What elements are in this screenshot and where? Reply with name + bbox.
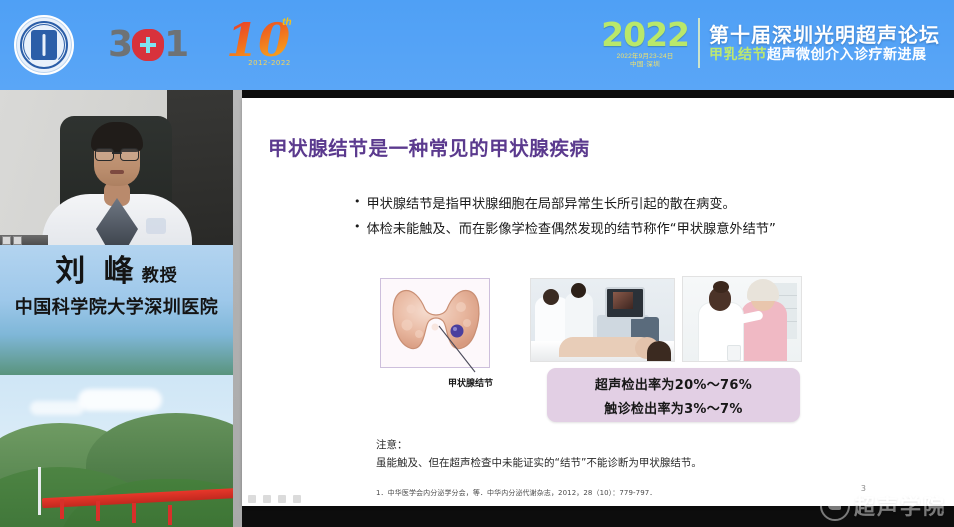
note-text: 虽能触及、但在超声检查中未能证实的“结节”不能诊断为甲状腺结节。 <box>376 454 916 472</box>
toolbar-icon[interactable] <box>263 495 271 503</box>
slide-note: 注意： 虽能触及、但在超声检查中未能证实的“结节”不能诊断为甲状腺结节。 <box>376 436 916 473</box>
banner-sub-title: 甲乳结节超声微创介入诊疗新进展 <box>709 48 940 62</box>
list-item: • 甲状腺结节是指甲状腺细胞在局部异常生长所引起的散在病变。 <box>354 192 934 217</box>
glasses-icon <box>95 148 139 159</box>
slide-reference: 1．中华医学会内分泌学分会，等．中华内分泌代谢杂志，2012，28（10）：77… <box>376 488 656 498</box>
palpation-exam-photo <box>682 276 802 362</box>
toolbar-icon[interactable] <box>293 495 301 503</box>
conference-banner: 3 1 10 th 2012-2022 2022 2022年9月23-24日 中… <box>0 0 954 90</box>
page-number: 3 <box>861 484 866 493</box>
presentation-viewer: 3 1 10 th 2012-2022 2022 2022年9月23-24日 中… <box>0 0 954 527</box>
banner-place: 中国·深圳 <box>630 62 660 69</box>
logo-digit-right: 1 <box>164 27 188 63</box>
speaker-panel: 刘 峰教授 中国科学院大学深圳医院 <box>0 90 233 527</box>
banner-main-title: 第十届深圳光明超声论坛 <box>709 25 940 45</box>
landscape-background <box>0 375 233 527</box>
banner-title-block: 2022 2022年9月23-24日 中国·深圳 第十届深圳光明超声论坛 甲乳结… <box>601 12 940 74</box>
banner-headings: 第十届深圳光明超声论坛 甲乳结节超声微创介入诊疗新进展 <box>709 25 940 62</box>
anniversary-numeral: 10 <box>226 17 290 63</box>
301-hospital-logo: 3 1 <box>108 27 188 63</box>
bullet-text: 体检未能触及、而在影像学检查偶然发现的结节称作“甲状腺意外结节” <box>367 217 776 242</box>
hospital-emblem-logo <box>14 15 74 75</box>
desktop-taskbar-strip[interactable] <box>0 235 48 245</box>
toolbar-icon[interactable] <box>278 495 286 503</box>
status-badge: 超声检出率为20%～76% <box>595 374 752 393</box>
anniversary-years: 2012-2022 <box>248 59 291 67</box>
note-heading: 注意： <box>376 436 916 454</box>
speaker-name-card: 刘 峰教授 中国科学院大学深圳医院 <box>0 256 233 319</box>
status-badge: 触诊检出率为3%～7% <box>604 398 742 417</box>
slide-bullet-list: • 甲状腺结节是指甲状腺细胞在局部异常生长所引起的散在病变。 • 体检未能触及、… <box>354 192 934 242</box>
bullet-text: 甲状腺结节是指甲状腺细胞在局部异常生长所引起的散在病变。 <box>367 192 736 217</box>
speaker-name-line: 刘 峰教授 <box>0 256 233 288</box>
red-cross-medallion-icon <box>131 28 165 62</box>
slide-content: 甲状腺结节是一种常见的甲状腺疾病 • 甲状腺结节是指甲状腺细胞在局部异常生长所引… <box>242 98 954 506</box>
toolbar-icon[interactable] <box>248 495 256 503</box>
banner-sub-title-rest: 超声微创介入诊疗新进展 <box>767 47 927 63</box>
panel-divider-strip <box>233 90 242 527</box>
banner-date: 2022年9月23-24日 <box>617 54 674 61</box>
bullet-dot-icon: • <box>354 217 361 238</box>
logo-digit-left: 3 <box>108 27 132 63</box>
ultrasound-exam-photo <box>530 278 675 362</box>
banner-divider <box>698 18 700 68</box>
banner-year: 2022 <box>601 18 689 51</box>
thyroid-nodule-label: 甲状腺结节 <box>448 376 493 389</box>
banner-logo-row: 3 1 10 th 2012-2022 <box>14 12 314 78</box>
anniversary-10th-logo: 10 th 2012-2022 <box>222 15 314 75</box>
speaker-name: 刘 峰 <box>55 254 137 289</box>
list-item: • 体检未能触及、而在影像学检查偶然发现的结节称作“甲状腺意外结节” <box>354 217 934 242</box>
anniversary-ordinal: th <box>282 17 291 28</box>
slide-title: 甲状腺结节是一种常见的甲状腺疾病 <box>268 132 590 161</box>
detection-rate-box: 超声检出率为20%～76% 触诊检出率为3%～7% <box>547 368 800 422</box>
bullet-dot-icon: • <box>354 192 361 213</box>
banner-year-block: 2022 2022年9月23-24日 中国·深圳 <box>601 18 689 69</box>
banner-sub-title-highlight: 甲乳结节 <box>709 47 767 63</box>
slide-toolbar[interactable] <box>248 495 301 503</box>
speaker-title: 教授 <box>142 266 178 286</box>
speaker-organization: 中国科学院大学深圳医院 <box>0 293 233 319</box>
figure-leader-line <box>437 324 481 376</box>
speaker-video-feed[interactable] <box>0 90 233 245</box>
